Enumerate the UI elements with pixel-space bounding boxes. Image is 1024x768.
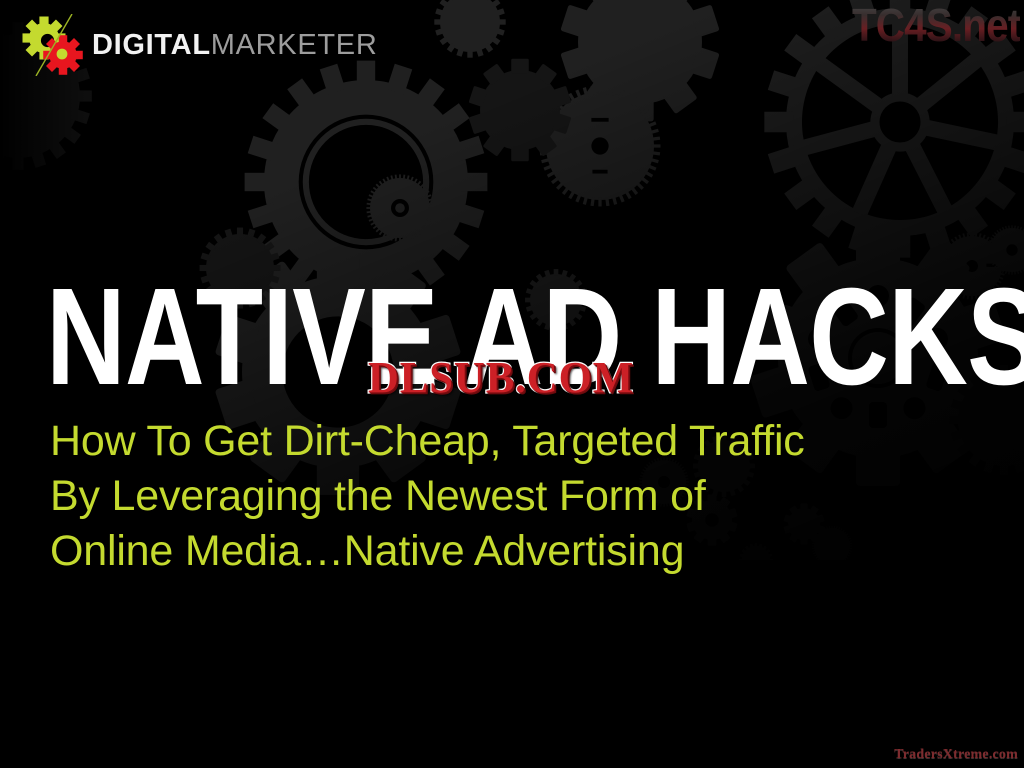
watermark-tradersxtreme: TradersXtreme.com xyxy=(894,748,1018,762)
watermark-tc4s: TC4S.net xyxy=(852,2,1020,48)
subtitle-line-2: By Leveraging the Newest Form of xyxy=(50,469,880,524)
subtitle-line-3: Online Media…Native Advertising xyxy=(50,524,880,579)
slide-canvas: TC4S.net xyxy=(0,0,1024,768)
logo-word-marketer: MARKETER xyxy=(211,29,378,61)
logo-wordmark: DIGITALMARKETER xyxy=(92,31,377,60)
digitalmarketer-logo: DIGITALMARKETER xyxy=(22,14,377,76)
slide-subtitle: How To Get Dirt-Cheap, Targeted Traffic … xyxy=(50,414,880,579)
logo-word-digital: DIGITAL xyxy=(92,29,211,61)
subtitle-line-1: How To Get Dirt-Cheap, Targeted Traffic xyxy=(50,414,880,469)
gears-logo-icon xyxy=(22,14,90,76)
watermark-dlsub: DLSUB.COM xyxy=(368,356,634,400)
